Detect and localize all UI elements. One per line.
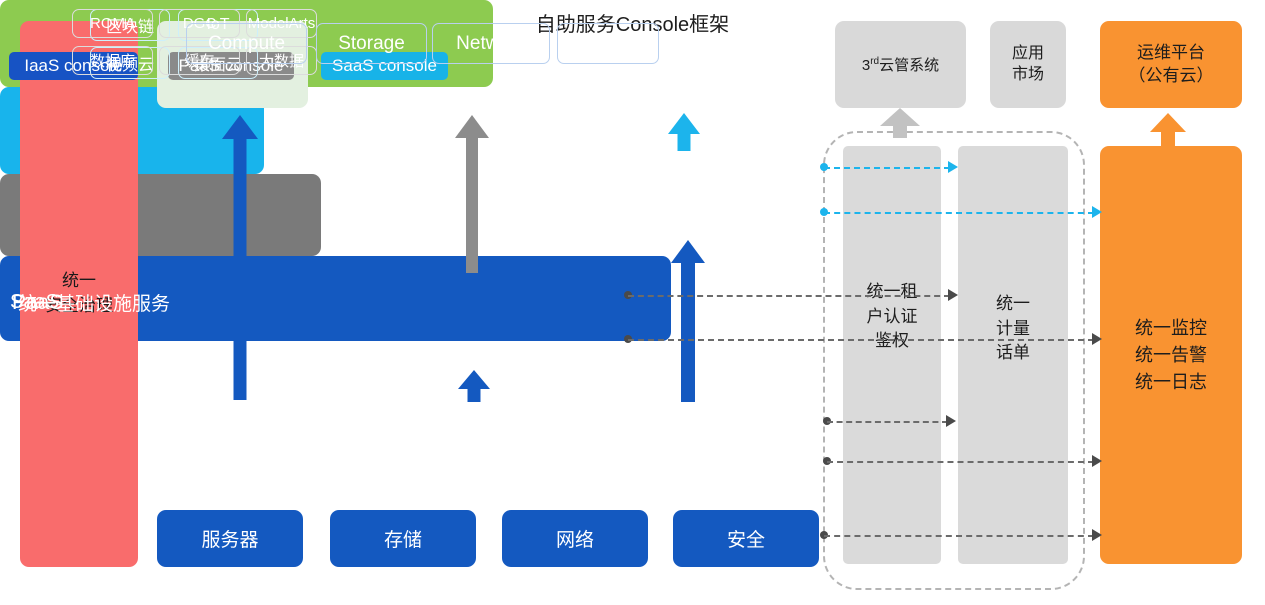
app-market-line2: 市场 (1012, 65, 1044, 86)
arrow-up-icon-paas-to-console (455, 115, 489, 273)
ops-column-line1: 统一监控 (1135, 315, 1207, 342)
infra-chip-cce[interactable]: CCE (557, 23, 659, 64)
auth-line1: 统一租 (843, 280, 941, 305)
arrow-right-icon-paas-to-auth (948, 289, 958, 301)
arrow-up-icon-infra-to-paas (458, 370, 490, 402)
infra-chip-compute[interactable]: Compute (186, 23, 307, 64)
auth-line3: 鉴权 (843, 329, 941, 354)
connector-line-paas-to-auth (628, 295, 950, 297)
architecture-diagram: 统一 安全治理 API网关 自助服务Console框架 IaaS console… (0, 0, 1265, 605)
arrow-right-icon-paas-to-ops (1092, 333, 1102, 345)
unified-metering-column: 统一 计量 话单 (958, 146, 1068, 564)
arrow-right-icon-saas-to-ops (1092, 206, 1102, 218)
auth-line2: 户认证 (843, 305, 941, 330)
metering-line3: 话单 (958, 341, 1068, 366)
connector-line-infra-to-ops (827, 461, 1094, 463)
third-party-cloud-mgmt-box: 3rd云管系统 (835, 21, 966, 108)
app-market-box: 应用 市场 (990, 21, 1066, 108)
arrow-right-icon-saas-to-auth (948, 161, 958, 173)
ops-platform-box: 运维平台 （公有云） (1100, 21, 1242, 108)
connector-line-saas-to-ops (824, 212, 1094, 214)
connector-line-infra-to-auth (827, 421, 948, 423)
app-market-line1: 应用 (1012, 44, 1044, 65)
ops-column-line2: 统一告警 (1135, 342, 1207, 369)
arrow-up-icon-saas-to-console (668, 113, 700, 151)
metering-line2: 计量 (958, 317, 1068, 342)
infra-chip-storage[interactable]: Storage (316, 23, 427, 64)
arrow-up-icon-ops-column-to-ops-platform (1150, 113, 1186, 146)
connector-line-paas-to-ops (628, 339, 1094, 341)
ops-platform-line1: 运维平台 (1129, 42, 1214, 65)
arrow-right-icon-resources-to-ops (1092, 529, 1102, 541)
resource-box-storage: 存储 (330, 510, 476, 567)
unified-tenant-auth-column: 统一租 户认证 鉴权 (843, 146, 941, 564)
resource-box-server: 服务器 (157, 510, 303, 567)
connector-line-resources-to-ops (824, 535, 1094, 537)
third-party-cloud-mgmt-label: 3rd云管系统 (862, 54, 939, 75)
connector-line-saas-to-auth (824, 167, 950, 169)
arrow-right-icon-infra-to-auth (946, 415, 956, 427)
unified-infrastructure-label: 统一基础设施服务 (18, 0, 170, 605)
ops-platform-line2: （公有云） (1129, 65, 1214, 88)
arrow-right-icon-infra-to-ops (1092, 455, 1102, 467)
arrow-up-icon-shared-to-third-cloud (880, 108, 920, 138)
unified-metering-text: 统一 计量 话单 (958, 292, 1068, 366)
resource-box-security: 安全 (673, 510, 819, 567)
unified-tenant-auth-text: 统一租 户认证 鉴权 (843, 280, 941, 354)
arrow-up-icon-infra-to-api-gateway (222, 115, 258, 400)
infra-chip-network[interactable]: Network (432, 23, 550, 64)
ops-monitoring-column: 统一监控 统一告警 统一日志 (1100, 146, 1242, 564)
unified-infrastructure-bar: 统一基础设施服务 Compute Storage Network CCE (0, 256, 671, 341)
resource-box-network: 网络 (502, 510, 648, 567)
ops-column-line3: 统一日志 (1135, 369, 1207, 396)
arrow-up-icon-infra-to-saas (671, 240, 705, 402)
metering-line1: 统一 (958, 292, 1068, 317)
